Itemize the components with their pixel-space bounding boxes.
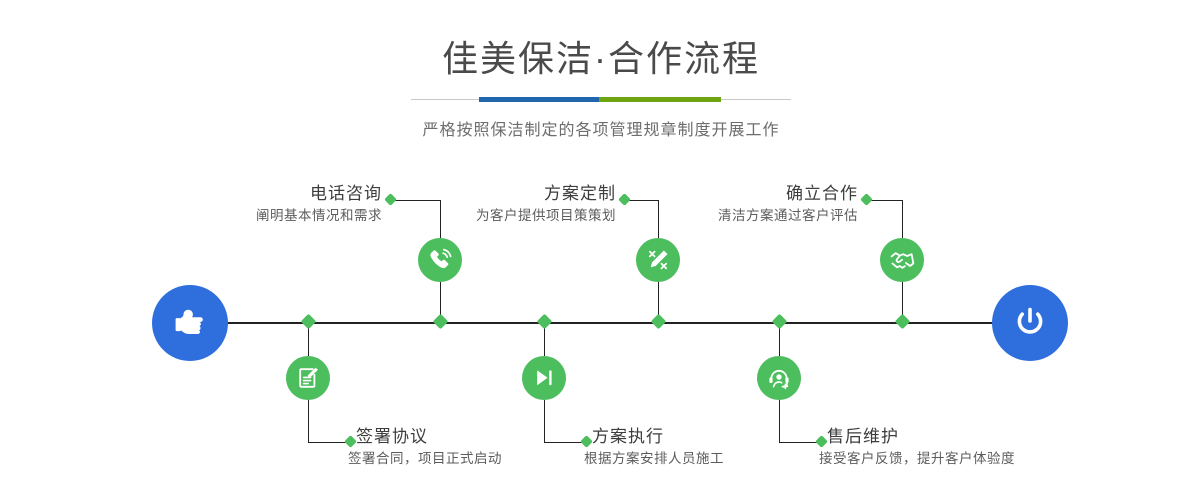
- document-edit-icon: [295, 365, 321, 391]
- label-title-plan-customize: 方案定制: [400, 183, 616, 206]
- step-icon-confirm-cooperation[interactable]: [880, 238, 924, 282]
- page-header: 佳美保洁·合作流程 严格按照保洁制定的各项管理规章制度开展工作: [0, 0, 1202, 140]
- label-marker-phone-consult: [384, 193, 397, 206]
- label-title-phone-consult: 电话咨询: [170, 183, 382, 206]
- page-subtitle: 严格按照保洁制定的各项管理规章制度开展工作: [0, 103, 1202, 140]
- label-elbow-h-sign-agreement: [308, 442, 350, 443]
- flow-start-node[interactable]: [152, 285, 228, 361]
- step-icon-phone-consult[interactable]: [418, 238, 462, 282]
- label-title-after-sales: 售后维护: [819, 426, 1015, 449]
- label-elbow-h-phone-consult: [392, 200, 441, 201]
- label-marker-plan-customize: [618, 193, 631, 206]
- handshake-icon: [889, 247, 916, 274]
- timeline-marker-confirm-cooperation: [895, 314, 911, 330]
- pencil-ruler-icon: [645, 247, 671, 273]
- label-desc-sign-agreement: 签署合同，项目正式启动: [348, 449, 502, 469]
- flow-end-node[interactable]: [992, 285, 1068, 361]
- label-desc-plan-execute: 根据方案安排人员施工: [584, 449, 724, 469]
- step-icon-sign-agreement[interactable]: [286, 356, 330, 400]
- label-plan-customize: 方案定制 为客户提供项目策策划: [400, 183, 616, 226]
- divider-segment-blue: [479, 97, 599, 102]
- label-desc-confirm-cooperation: 清洁方案通过客户评估: [640, 206, 858, 226]
- label-desc-after-sales: 接受客户反馈，提升客户体验度: [819, 449, 1015, 469]
- label-elbow-h-plan-customize: [626, 200, 659, 201]
- timeline-marker-plan-execute: [537, 314, 553, 330]
- power-icon: [1009, 302, 1051, 344]
- label-confirm-cooperation: 确立合作 清洁方案通过客户评估: [640, 183, 858, 226]
- label-elbow-v-after-sales: [779, 400, 780, 442]
- label-marker-confirm-cooperation: [860, 193, 873, 206]
- headset-support-icon: [766, 365, 792, 391]
- title-divider: [411, 96, 791, 103]
- thumbs-up-icon: [170, 303, 210, 343]
- divider-segment-green: [599, 97, 721, 102]
- play-execute-icon: [531, 365, 557, 391]
- page-title: 佳美保洁·合作流程: [0, 0, 1202, 82]
- label-sign-agreement: 签署协议 签署合同，项目正式启动: [348, 426, 502, 469]
- step-icon-plan-customize[interactable]: [636, 238, 680, 282]
- phone-call-icon: [427, 247, 453, 273]
- timeline-marker-plan-customize: [651, 314, 667, 330]
- label-elbow-v-plan-customize: [658, 200, 659, 238]
- label-title-confirm-cooperation: 确立合作: [640, 183, 858, 206]
- label-title-sign-agreement: 签署协议: [348, 426, 502, 449]
- label-after-sales: 售后维护 接受客户反馈，提升客户体验度: [819, 426, 1015, 469]
- label-desc-plan-customize: 为客户提供项目策策划: [400, 206, 616, 226]
- label-elbow-h-plan-execute: [544, 442, 586, 443]
- label-elbow-h-confirm-cooperation: [868, 200, 903, 201]
- step-icon-after-sales[interactable]: [757, 356, 801, 400]
- label-elbow-h-after-sales: [779, 442, 821, 443]
- label-elbow-v-plan-execute: [544, 400, 545, 442]
- label-elbow-v-sign-agreement: [308, 400, 309, 442]
- label-desc-phone-consult: 阐明基本情况和需求: [170, 206, 382, 226]
- step-icon-plan-execute[interactable]: [522, 356, 566, 400]
- timeline-marker-phone-consult: [433, 314, 449, 330]
- label-title-plan-execute: 方案执行: [584, 426, 724, 449]
- label-phone-consult: 电话咨询 阐明基本情况和需求: [170, 183, 382, 226]
- timeline-marker-after-sales: [772, 314, 788, 330]
- label-elbow-v-confirm-cooperation: [902, 200, 903, 238]
- cooperation-flow-diagram: 电话咨询 阐明基本情况和需求 签署协议 签署合同，项目正式启动 方案定制 为客户…: [0, 150, 1202, 502]
- timeline-marker-sign-agreement: [301, 314, 317, 330]
- label-plan-execute: 方案执行 根据方案安排人员施工: [584, 426, 724, 469]
- label-elbow-v-phone-consult: [440, 200, 441, 238]
